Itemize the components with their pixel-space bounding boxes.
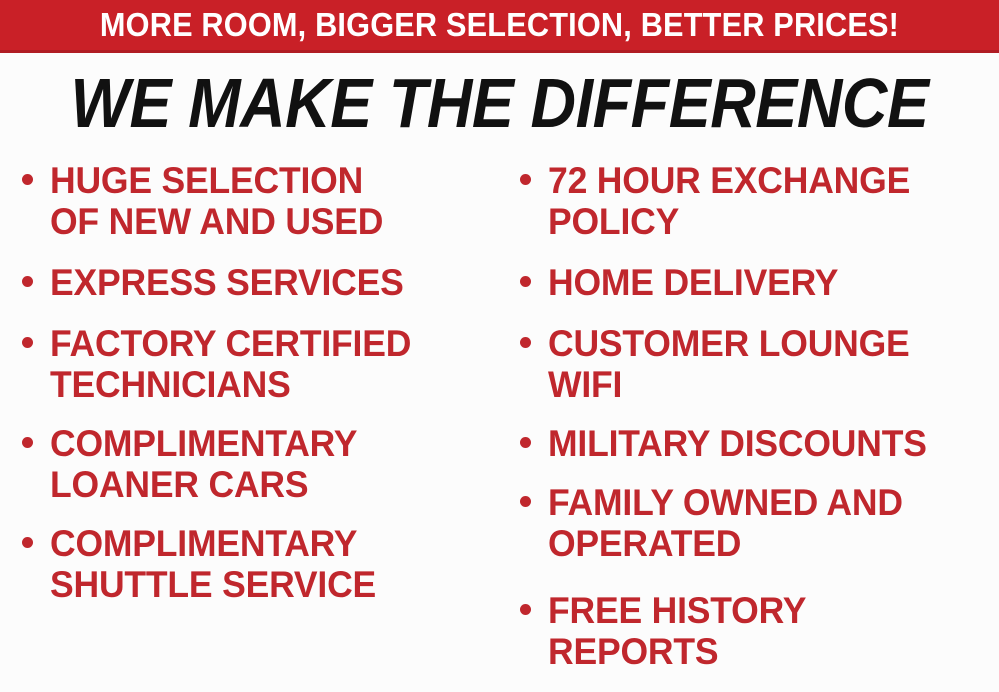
bullet-dot-icon: [520, 604, 531, 615]
list-item-label: COMPLIMENTARY SHUTTLE SERVICE: [50, 523, 476, 605]
list-item-label: EXPRESS SERVICES: [50, 262, 476, 303]
list-item: COMPLIMENTARY LOANER CARS: [14, 423, 494, 505]
bullet-dot-icon: [520, 276, 531, 287]
feature-list-left: HUGE SELECTION OF NEW AND USED EXPRESS S…: [14, 160, 494, 631]
banner-headline: MORE ROOM, BIGGER SELECTION, BETTER PRIC…: [35, 8, 964, 42]
bullet-dot-icon: [22, 276, 33, 287]
list-item: FAMILY OWNED AND OPERATED: [512, 482, 999, 564]
list-item: HUGE SELECTION OF NEW AND USED: [14, 160, 494, 242]
list-item: COMPLIMENTARY SHUTTLE SERVICE: [14, 523, 494, 605]
list-item-label: FACTORY CERTIFIED TECHNICIANS: [50, 323, 476, 405]
bullet-dot-icon: [520, 437, 531, 448]
top-banner: MORE ROOM, BIGGER SELECTION, BETTER PRIC…: [0, 0, 999, 53]
list-item: FREE HISTORY REPORTS: [512, 590, 999, 672]
list-item: CUSTOMER LOUNGE WIFI: [512, 323, 999, 405]
list-item: MILITARY DISCOUNTS: [512, 423, 999, 464]
bullet-dot-icon: [22, 174, 33, 185]
list-item-label: 72 HOUR EXCHANGE POLICY: [548, 160, 981, 242]
list-item-label: COMPLIMENTARY LOANER CARS: [50, 423, 476, 505]
list-item: FACTORY CERTIFIED TECHNICIANS: [14, 323, 494, 405]
list-item-label: CUSTOMER LOUNGE WIFI: [548, 323, 981, 405]
list-item-label: FREE HISTORY REPORTS: [548, 590, 981, 672]
list-item-label: HOME DELIVERY: [548, 262, 981, 303]
bullet-dot-icon: [22, 337, 33, 348]
list-item: EXPRESS SERVICES: [14, 262, 494, 303]
bullet-dot-icon: [520, 337, 531, 348]
page-title: WE MAKE THE DIFFERENCE: [50, 66, 949, 140]
list-item: 72 HOUR EXCHANGE POLICY: [512, 160, 999, 242]
bullet-dot-icon: [520, 174, 531, 185]
promo-poster: MORE ROOM, BIGGER SELECTION, BETTER PRIC…: [0, 0, 999, 692]
bullet-dot-icon: [22, 537, 33, 548]
bullet-dot-icon: [22, 437, 33, 448]
list-item-label: FAMILY OWNED AND OPERATED: [548, 482, 981, 564]
list-item: HOME DELIVERY: [512, 262, 999, 303]
list-item-label: HUGE SELECTION OF NEW AND USED: [50, 160, 476, 242]
feature-list-right: 72 HOUR EXCHANGE POLICY HOME DELIVERY CU…: [512, 160, 999, 692]
list-item-label: MILITARY DISCOUNTS: [548, 423, 981, 464]
bullet-dot-icon: [520, 496, 531, 507]
